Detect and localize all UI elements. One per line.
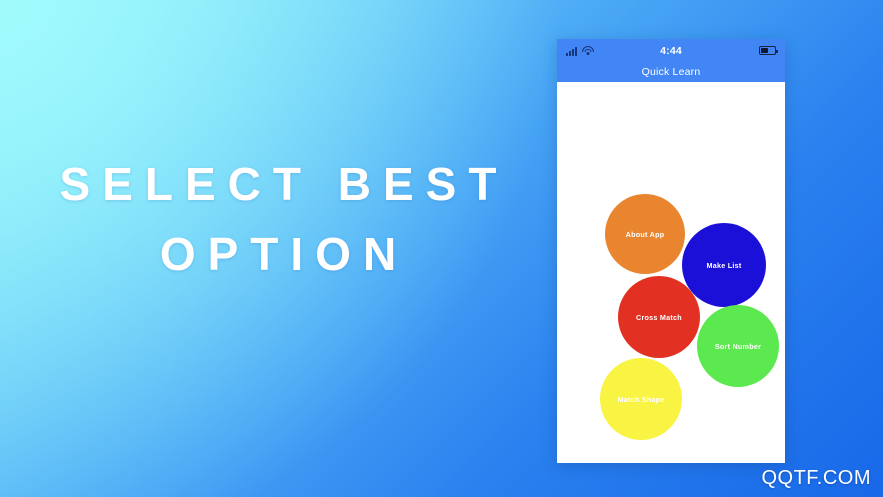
bubble-match-shape[interactable]: Match Shape xyxy=(600,358,682,440)
app-bar-title: Quick Learn xyxy=(642,66,701,78)
app-bar: Quick Learn xyxy=(557,62,785,82)
status-bar-time: 4:44 xyxy=(557,39,785,62)
phone-mockup: 4:44 Quick Learn About AppMake ListCross… xyxy=(557,39,785,463)
battery-icon xyxy=(759,46,776,55)
bubble-label: Cross Match xyxy=(636,313,682,322)
bubble-label: Sort Number xyxy=(715,342,761,351)
bubble-cross-match[interactable]: Cross Match xyxy=(618,276,700,358)
headline-line-1: SELECT BEST xyxy=(0,160,556,208)
bubble-label: About App xyxy=(626,230,665,239)
site-watermark: QQTF.COM xyxy=(761,467,871,490)
bubble-canvas: About AppMake ListCross MatchSort Number… xyxy=(557,82,785,463)
bubble-label: Match Shape xyxy=(617,395,664,404)
status-bar: 4:44 xyxy=(557,39,785,62)
bubble-make-list[interactable]: Make List xyxy=(682,223,766,307)
headline-line-2: OPTION xyxy=(0,230,556,278)
status-bar-right xyxy=(759,46,776,55)
promo-headline: SELECT BEST OPTION xyxy=(0,160,556,279)
bubble-about-app[interactable]: About App xyxy=(605,194,685,274)
bubble-label: Make List xyxy=(706,261,741,270)
bubble-sort-number[interactable]: Sort Number xyxy=(697,305,779,387)
